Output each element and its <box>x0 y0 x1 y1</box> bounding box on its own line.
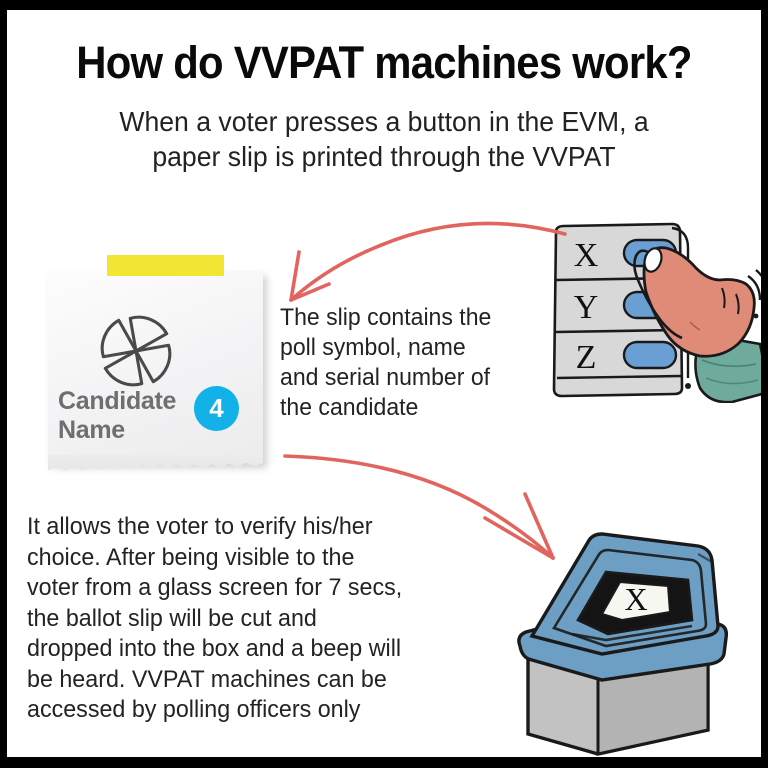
infographic-root: How do VVPAT machines work? When a voter… <box>0 0 768 768</box>
yellow-tape <box>107 255 224 276</box>
paragraph-line: the ballot slip will be cut and <box>27 604 444 635</box>
verification-paragraph: It allows the voter to verify his/her ch… <box>27 512 444 726</box>
subtitle-line: paper slip is printed through the VVPAT <box>80 139 688 174</box>
candidate-name: Candidate Name <box>58 387 198 445</box>
evm-illustration: X Y Z <box>550 218 761 403</box>
candidate-name-line: Candidate <box>58 387 198 416</box>
paragraph-line: accessed by polling officers only <box>27 695 444 726</box>
evm-label-z: Z <box>576 339 597 376</box>
vvpat-machine-illustration: X <box>502 528 752 757</box>
slip-contents-caption: The slip contains the poll symbol, name … <box>280 303 520 423</box>
caption-line: poll symbol, name <box>280 333 520 363</box>
infographic-canvas: How do VVPAT machines work? When a voter… <box>7 10 761 757</box>
caption-line: the candidate <box>280 393 520 423</box>
page-subtitle: When a voter presses a button in the EVM… <box>80 104 688 174</box>
paragraph-line: choice. After being visible to the <box>27 543 444 574</box>
arrow-shaft <box>291 223 565 300</box>
arrow-head-left <box>291 252 299 300</box>
caption-line: and serial number of <box>280 363 520 393</box>
page-title: How do VVPAT machines work? <box>33 38 734 88</box>
serial-number-badge: 4 <box>194 386 239 431</box>
subtitle-line: When a voter presses a button in the EVM… <box>80 104 688 139</box>
paragraph-line: be heard. VVPAT machines can be <box>27 665 444 696</box>
slip-torn-edge <box>48 455 263 473</box>
caption-line: The slip contains the <box>280 303 520 333</box>
candidate-name-line: Name <box>58 416 198 445</box>
pinwheel-poll-symbol <box>88 303 184 399</box>
paragraph-line: voter from a glass screen for 7 secs, <box>27 573 444 604</box>
arrow-head-right <box>291 284 329 300</box>
paragraph-line: It allows the voter to verify his/her <box>27 512 444 543</box>
evm-button-z <box>624 342 676 368</box>
paragraph-line: dropped into the box and a beep will <box>27 634 444 665</box>
evm-label-x: X <box>574 237 599 274</box>
ballot-slip: Candidate Name 4 <box>40 255 280 480</box>
evm-label-y: Y <box>574 289 599 326</box>
vvpat-screen-mark: X <box>624 581 647 617</box>
